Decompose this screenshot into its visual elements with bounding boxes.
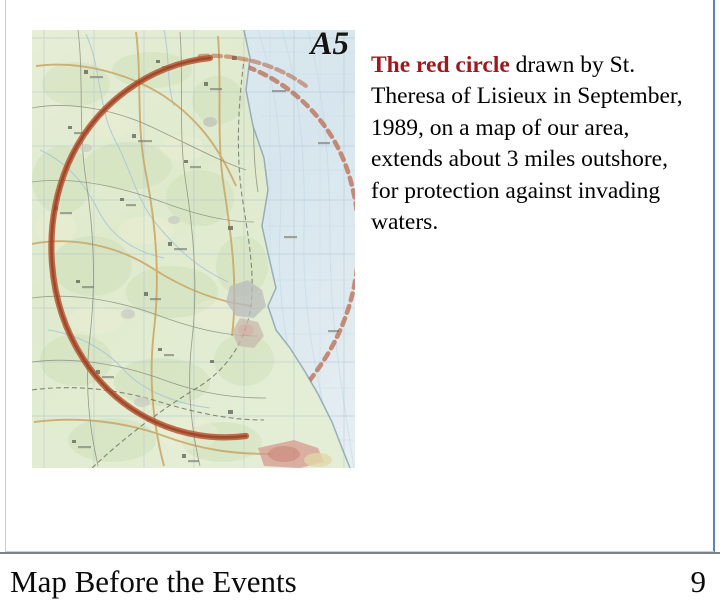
- slide-footer: Map Before the Events 9: [0, 554, 720, 610]
- map-image[interactable]: A5: [32, 30, 355, 468]
- page-frame-left-line: [5, 0, 6, 552]
- footer-page-number: 9: [691, 566, 707, 599]
- page-frame-right-line: [713, 0, 715, 552]
- caption-text: The red circle drawn by St. Theresa of L…: [371, 50, 701, 239]
- map-graphic: [32, 30, 355, 468]
- slide-canvas: A5 The red circle drawn by St. Theresa o…: [0, 0, 720, 610]
- footer-title: Map Before the Events: [10, 566, 297, 599]
- map-corner-label-a5: A5: [310, 30, 349, 61]
- caption-highlight: The red circle: [371, 52, 510, 78]
- caption-body: drawn by St. Theresa of Lisieux in Septe…: [371, 52, 683, 236]
